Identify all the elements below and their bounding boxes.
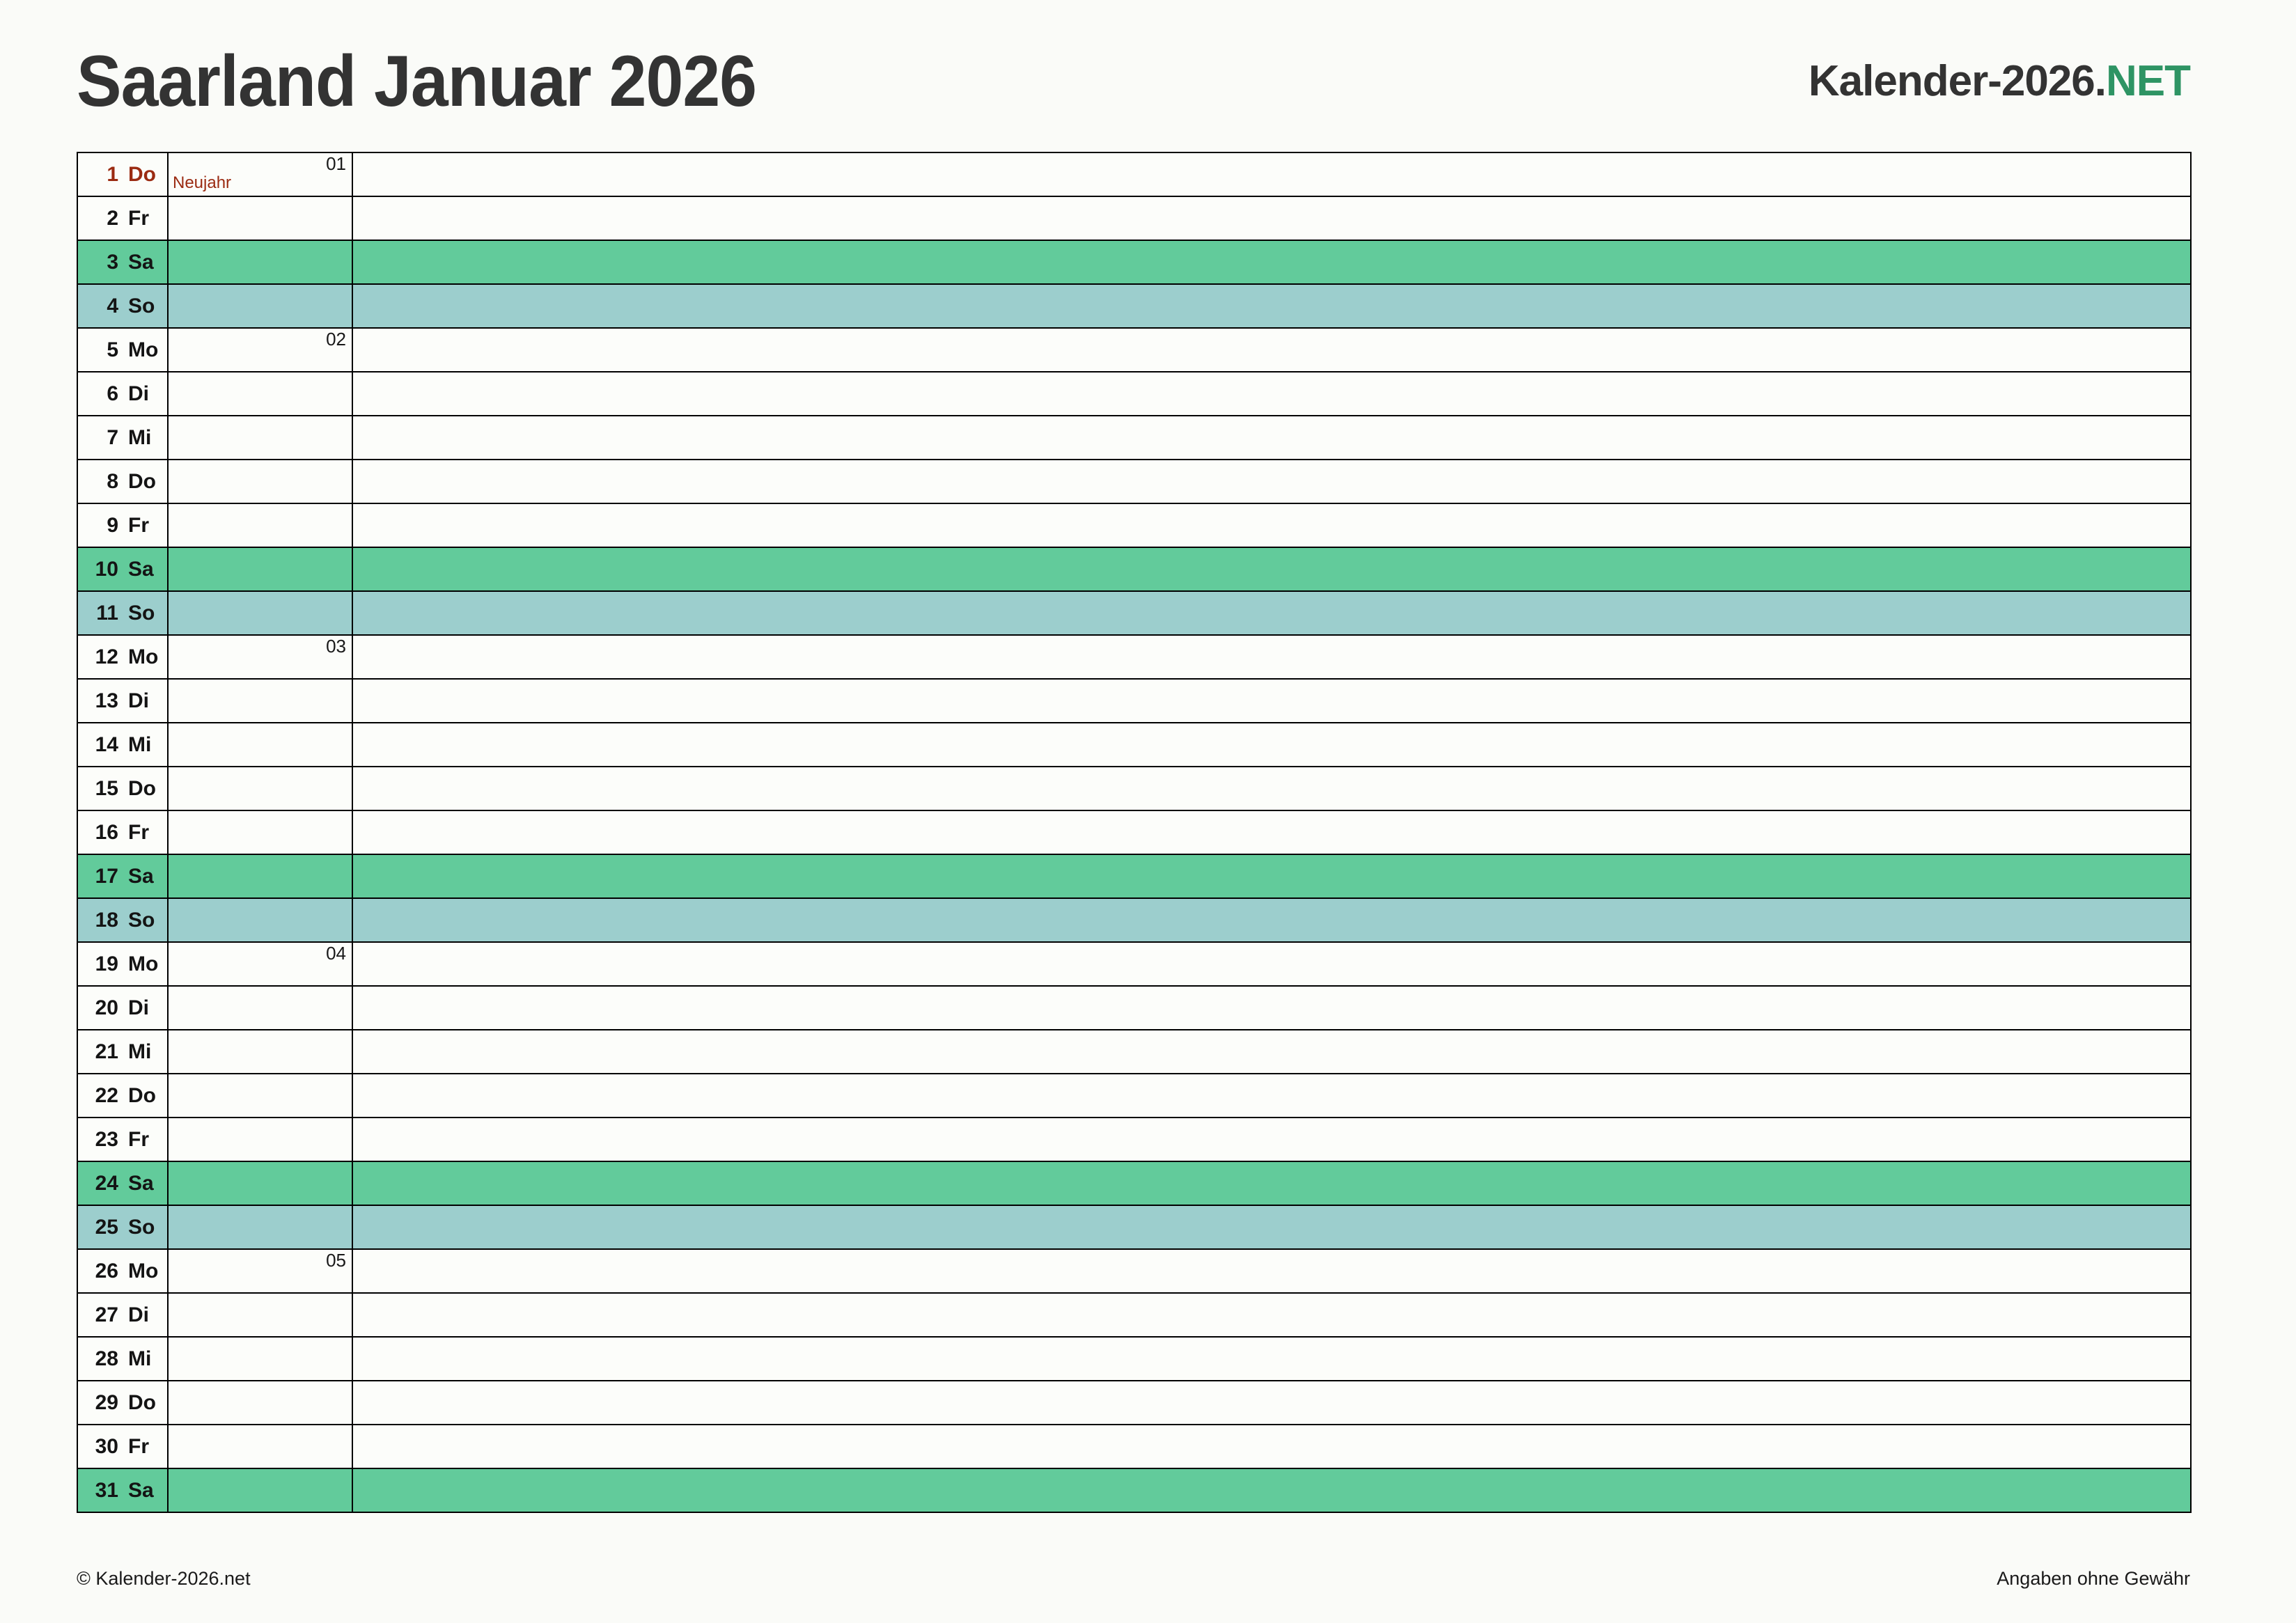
weekday-abbreviation: So: [128, 602, 155, 625]
entry-cell[interactable]: [352, 723, 2191, 767]
entry-cell[interactable]: [352, 196, 2191, 240]
day-cell: 6Di: [77, 372, 168, 416]
brand-logo[interactable]: Kalender-2026.NET: [1809, 60, 2190, 103]
weekday-abbreviation: Mo: [128, 338, 158, 362]
day-number: 20: [78, 996, 118, 1020]
day-number: 31: [78, 1479, 118, 1503]
day-number: 24: [78, 1172, 118, 1195]
day-cell: 14Mi: [77, 723, 168, 767]
calendar-row: 3Sa: [77, 240, 2191, 284]
day-cell: 31Sa: [77, 1468, 168, 1512]
weekday-abbreviation: Di: [128, 382, 149, 406]
calendar-row: 2Fr: [77, 196, 2191, 240]
entry-cell[interactable]: [352, 591, 2191, 635]
weekday-abbreviation: Do: [128, 1084, 156, 1108]
calendar-row: 4So: [77, 284, 2191, 328]
note-cell[interactable]: [168, 240, 352, 284]
weekday-abbreviation: Do: [128, 163, 156, 187]
calendar-row: 11So: [77, 591, 2191, 635]
calendar-row: 12Mo03: [77, 635, 2191, 679]
calendar-grid-container: 1Do01Neujahr2Fr3Sa4So5Mo026Di7Mi8Do9Fr10…: [77, 152, 2190, 1513]
day-number: 3: [78, 251, 118, 274]
calendar-row: 16Fr: [77, 810, 2191, 854]
day-number: 29: [78, 1391, 118, 1415]
day-cell: 9Fr: [77, 503, 168, 547]
entry-cell[interactable]: [352, 1249, 2191, 1293]
day-cell: 5Mo: [77, 328, 168, 372]
day-cell: 4So: [77, 284, 168, 328]
weekday-abbreviation: Mo: [128, 952, 158, 976]
day-cell: 22Do: [77, 1074, 168, 1118]
note-cell[interactable]: [168, 1074, 352, 1118]
entry-cell[interactable]: [352, 152, 2191, 196]
weekday-abbreviation: Di: [128, 996, 149, 1020]
note-cell[interactable]: [168, 1205, 352, 1249]
note-cell[interactable]: [168, 1381, 352, 1425]
weekday-abbreviation: Mi: [128, 426, 151, 450]
weekday-abbreviation: Di: [128, 1303, 149, 1327]
day-number: 13: [78, 689, 118, 713]
day-number: 12: [78, 645, 118, 669]
day-number: 28: [78, 1347, 118, 1371]
calendar-row: 31Sa: [77, 1468, 2191, 1512]
entry-cell[interactable]: [352, 503, 2191, 547]
entry-cell[interactable]: [352, 1030, 2191, 1074]
calendar-row: 10Sa: [77, 547, 2191, 591]
week-number: 02: [326, 330, 346, 348]
day-number: 8: [78, 470, 118, 494]
note-cell[interactable]: [168, 1161, 352, 1205]
day-cell: 15Do: [77, 767, 168, 810]
day-number: 23: [78, 1128, 118, 1152]
calendar-row: 15Do: [77, 767, 2191, 810]
entry-cell[interactable]: [352, 547, 2191, 591]
day-cell: 8Do: [77, 460, 168, 503]
note-cell[interactable]: [168, 1337, 352, 1381]
calendar-row: 6Di: [77, 372, 2191, 416]
day-number: 21: [78, 1040, 118, 1064]
weekday-abbreviation: Sa: [128, 1172, 154, 1195]
calendar-row: 14Mi: [77, 723, 2191, 767]
entry-cell[interactable]: [352, 1337, 2191, 1381]
day-cell: 23Fr: [77, 1118, 168, 1161]
entry-cell[interactable]: [352, 416, 2191, 460]
day-cell: 20Di: [77, 986, 168, 1030]
weekday-abbreviation: So: [128, 295, 155, 318]
day-cell: 24Sa: [77, 1161, 168, 1205]
calendar-row: 19Mo04: [77, 942, 2191, 986]
calendar-row: 17Sa: [77, 854, 2191, 898]
entry-cell[interactable]: [352, 372, 2191, 416]
entry-cell[interactable]: [352, 1425, 2191, 1468]
calendar-body: 1Do01Neujahr2Fr3Sa4So5Mo026Di7Mi8Do9Fr10…: [77, 152, 2191, 1512]
day-cell: 13Di: [77, 679, 168, 723]
note-cell[interactable]: [168, 591, 352, 635]
weekday-abbreviation: Fr: [128, 514, 149, 538]
entry-cell[interactable]: [352, 679, 2191, 723]
calendar-row: 29Do: [77, 1381, 2191, 1425]
calendar-row: 8Do: [77, 460, 2191, 503]
weekday-abbreviation: Do: [128, 470, 156, 494]
entry-cell[interactable]: [352, 284, 2191, 328]
calendar-row: 21Mi: [77, 1030, 2191, 1074]
brand-name: Kalender-2026.: [1809, 57, 2106, 105]
calendar-row: 13Di: [77, 679, 2191, 723]
page-title: Saarland Januar 2026: [77, 45, 756, 118]
note-cell[interactable]: [168, 1468, 352, 1512]
entry-cell[interactable]: [352, 635, 2191, 679]
weekday-abbreviation: Sa: [128, 1479, 154, 1503]
day-cell: 30Fr: [77, 1425, 168, 1468]
day-number: 19: [78, 952, 118, 976]
day-number: 2: [78, 207, 118, 230]
weekday-abbreviation: So: [128, 909, 155, 932]
entry-cell[interactable]: [352, 854, 2191, 898]
entry-cell[interactable]: [352, 1381, 2191, 1425]
day-number: 16: [78, 821, 118, 845]
calendar-row: 22Do: [77, 1074, 2191, 1118]
day-cell: 7Mi: [77, 416, 168, 460]
note-cell[interactable]: [168, 1293, 352, 1337]
day-number: 22: [78, 1084, 118, 1108]
calendar-row: 30Fr: [77, 1425, 2191, 1468]
entry-cell[interactable]: [352, 1293, 2191, 1337]
note-cell[interactable]: [168, 723, 352, 767]
weekday-abbreviation: Sa: [128, 558, 154, 581]
day-cell: 12Mo: [77, 635, 168, 679]
calendar-row: 1Do01Neujahr: [77, 152, 2191, 196]
day-number: 1: [78, 163, 118, 187]
calendar-row: 18So: [77, 898, 2191, 942]
entry-cell[interactable]: [352, 1468, 2191, 1512]
calendar-table: 1Do01Neujahr2Fr3Sa4So5Mo026Di7Mi8Do9Fr10…: [77, 152, 2192, 1513]
calendar-row: 5Mo02: [77, 328, 2191, 372]
note-cell[interactable]: 02: [168, 328, 352, 372]
day-number: 15: [78, 777, 118, 801]
weekday-abbreviation: Sa: [128, 251, 154, 274]
day-number: 5: [78, 338, 118, 362]
entry-cell[interactable]: [352, 767, 2191, 810]
day-number: 30: [78, 1435, 118, 1459]
weekday-abbreviation: Mi: [128, 733, 151, 757]
day-cell: 10Sa: [77, 547, 168, 591]
day-cell: 3Sa: [77, 240, 168, 284]
day-cell: 1Do: [77, 152, 168, 196]
page-header: Saarland Januar 2026 Kalender-2026.NET: [77, 36, 2190, 127]
day-number: 25: [78, 1216, 118, 1239]
note-cell[interactable]: [168, 767, 352, 810]
weekday-abbreviation: Fr: [128, 207, 149, 230]
calendar-row: 20Di: [77, 986, 2191, 1030]
day-number: 27: [78, 1303, 118, 1327]
day-cell: 27Di: [77, 1293, 168, 1337]
entry-cell[interactable]: [352, 240, 2191, 284]
note-cell[interactable]: [168, 284, 352, 328]
note-cell[interactable]: [168, 898, 352, 942]
entry-cell[interactable]: [352, 1205, 2191, 1249]
entry-cell[interactable]: [352, 986, 2191, 1030]
weekday-abbreviation: Fr: [128, 821, 149, 845]
day-number: 7: [78, 426, 118, 450]
note-cell[interactable]: [168, 416, 352, 460]
weekday-abbreviation: Mi: [128, 1040, 151, 1064]
day-cell: 21Mi: [77, 1030, 168, 1074]
day-number: 10: [78, 558, 118, 581]
day-cell: 18So: [77, 898, 168, 942]
day-cell: 16Fr: [77, 810, 168, 854]
weekday-abbreviation: Mo: [128, 1260, 158, 1283]
day-cell: 2Fr: [77, 196, 168, 240]
weekday-abbreviation: Do: [128, 1391, 156, 1415]
weekday-abbreviation: Mo: [128, 645, 158, 669]
week-number: 01: [326, 155, 346, 173]
note-cell[interactable]: [168, 1030, 352, 1074]
calendar-row: 27Di: [77, 1293, 2191, 1337]
day-number: 11: [78, 602, 118, 625]
disclaimer-text: Angaben ohne Gewähr: [1997, 1568, 2190, 1590]
week-number: 05: [326, 1251, 346, 1269]
day-cell: 28Mi: [77, 1337, 168, 1381]
day-cell: 29Do: [77, 1381, 168, 1425]
entry-cell[interactable]: [352, 1118, 2191, 1161]
note-cell[interactable]: [168, 460, 352, 503]
entry-cell[interactable]: [352, 898, 2191, 942]
copyright-text: © Kalender-2026.net: [77, 1568, 251, 1590]
note-cell[interactable]: [168, 679, 352, 723]
calendar-row: 7Mi: [77, 416, 2191, 460]
day-cell: 25So: [77, 1205, 168, 1249]
entry-cell[interactable]: [352, 810, 2191, 854]
calendar-row: 28Mi: [77, 1337, 2191, 1381]
note-cell[interactable]: 03: [168, 635, 352, 679]
entry-cell[interactable]: [352, 942, 2191, 986]
note-cell[interactable]: [168, 810, 352, 854]
day-number: 14: [78, 733, 118, 757]
weekday-abbreviation: Do: [128, 777, 156, 801]
week-number: 03: [326, 637, 346, 655]
calendar-page: Saarland Januar 2026 Kalender-2026.NET 1…: [0, 0, 2296, 1623]
note-cell[interactable]: [168, 196, 352, 240]
day-number: 6: [78, 382, 118, 406]
calendar-row: 24Sa: [77, 1161, 2191, 1205]
week-number: 04: [326, 944, 346, 962]
day-cell: 26Mo: [77, 1249, 168, 1293]
entry-cell[interactable]: [352, 1074, 2191, 1118]
weekday-abbreviation: Mi: [128, 1347, 151, 1371]
note-cell[interactable]: 05: [168, 1249, 352, 1293]
day-number: 9: [78, 514, 118, 538]
day-number: 18: [78, 909, 118, 932]
entry-cell[interactable]: [352, 460, 2191, 503]
entry-cell[interactable]: [352, 1161, 2191, 1205]
note-cell[interactable]: 01Neujahr: [168, 152, 352, 196]
brand-tld: NET: [2106, 57, 2190, 105]
holiday-label: Neujahr: [173, 175, 231, 191]
note-cell[interactable]: [168, 986, 352, 1030]
day-cell: 17Sa: [77, 854, 168, 898]
note-cell[interactable]: [168, 503, 352, 547]
calendar-row: 23Fr: [77, 1118, 2191, 1161]
day-number: 26: [78, 1260, 118, 1283]
day-number: 4: [78, 295, 118, 318]
weekday-abbreviation: So: [128, 1216, 155, 1239]
weekday-abbreviation: Fr: [128, 1435, 149, 1459]
note-cell[interactable]: [168, 854, 352, 898]
entry-cell[interactable]: [352, 328, 2191, 372]
note-cell[interactable]: 04: [168, 942, 352, 986]
weekday-abbreviation: Di: [128, 689, 149, 713]
calendar-row: 26Mo05: [77, 1249, 2191, 1293]
calendar-row: 9Fr: [77, 503, 2191, 547]
calendar-row: 25So: [77, 1205, 2191, 1249]
note-cell[interactable]: [168, 1425, 352, 1468]
day-number: 17: [78, 865, 118, 888]
weekday-abbreviation: Fr: [128, 1128, 149, 1152]
note-cell[interactable]: [168, 1118, 352, 1161]
weekday-abbreviation: Sa: [128, 865, 154, 888]
note-cell[interactable]: [168, 372, 352, 416]
note-cell[interactable]: [168, 547, 352, 591]
day-cell: 11So: [77, 591, 168, 635]
day-cell: 19Mo: [77, 942, 168, 986]
page-footer: © Kalender-2026.net Angaben ohne Gewähr: [77, 1568, 2190, 1590]
